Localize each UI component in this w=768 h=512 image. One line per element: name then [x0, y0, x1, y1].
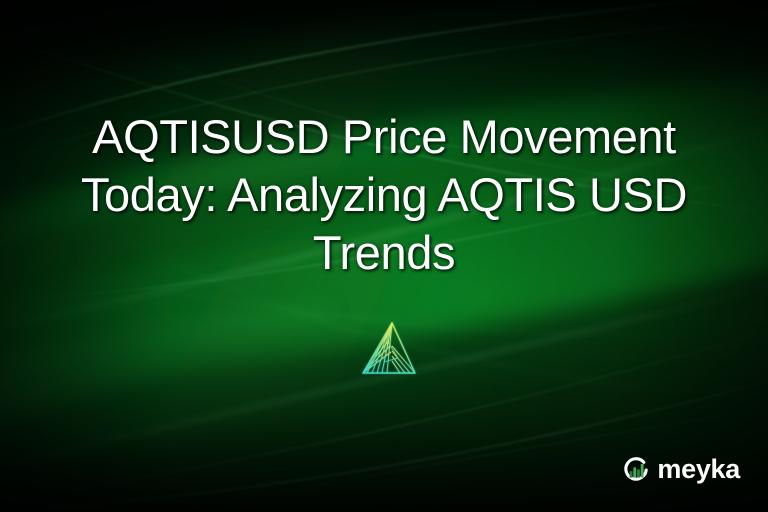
- meyka-circle-bars-logo-icon: [621, 455, 651, 485]
- brand-lockup[interactable]: meyka: [621, 455, 740, 485]
- page-title: AQTISUSD Price Movement Today: Analyzing…: [28, 108, 740, 282]
- brand-wordmark: meyka: [657, 456, 740, 483]
- banner-image: AQTISUSD Price Movement Today: Analyzing…: [0, 0, 768, 512]
- aqtis-triangle-emblem-icon: [358, 318, 418, 382]
